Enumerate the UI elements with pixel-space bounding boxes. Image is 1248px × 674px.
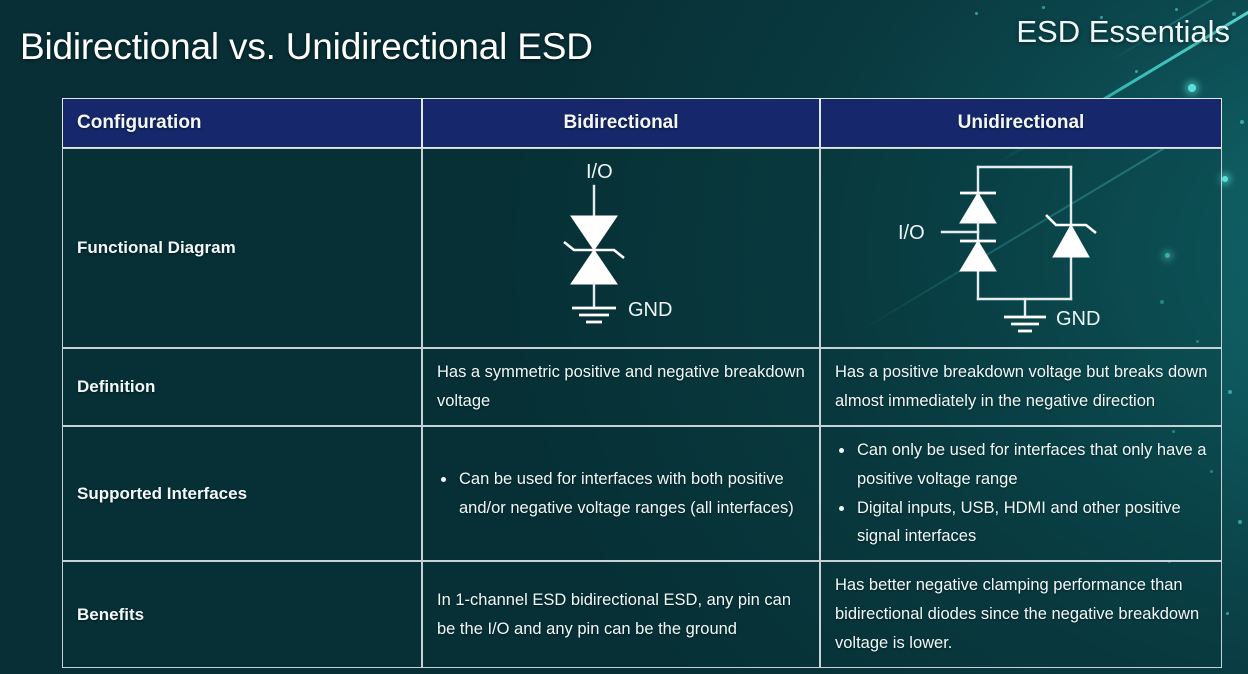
bullet-list-unidirectional: Can only be used for interfaces that onl… xyxy=(835,436,1209,552)
cell-bidirectional-diagram: I/O xyxy=(422,148,820,348)
row-label-benefits: Benefits xyxy=(62,561,422,668)
list-item: Can only be used for interfaces that onl… xyxy=(835,436,1209,494)
sparkle-icon xyxy=(1226,612,1229,615)
column-header-configuration: Configuration xyxy=(62,98,422,148)
table-row: Supported Interfaces Can be used for int… xyxy=(62,426,1222,562)
table-row: Benefits In 1-channel ESD bidirectional … xyxy=(62,561,1222,668)
cell-bidirectional-supported-interfaces: Can be used for interfaces with both pos… xyxy=(422,426,820,562)
gnd-label-unidirectional: GND xyxy=(1056,308,1100,330)
row-label-supported-interfaces: Supported Interfaces xyxy=(62,426,422,562)
sparkle-icon xyxy=(1042,6,1045,9)
table-row: Definition Has a symmetric positive and … xyxy=(62,348,1222,426)
cell-bidirectional-benefits: In 1-channel ESD bidirectional ESD, any … xyxy=(422,561,820,668)
sparkle-icon xyxy=(1228,390,1232,394)
sparkle-icon xyxy=(1175,8,1178,11)
list-item: Can be used for interfaces with both pos… xyxy=(437,465,807,523)
slide-series-label: ESD Essentials xyxy=(1016,14,1230,50)
sparkle-icon xyxy=(975,12,978,15)
comparison-table: Configuration Bidirectional Unidirection… xyxy=(62,98,1222,668)
sparkle-icon xyxy=(1188,84,1196,92)
column-header-bidirectional: Bidirectional xyxy=(422,98,820,148)
cell-unidirectional-benefits: Has better negative clamping performance… xyxy=(820,561,1222,668)
bidirectional-tvs-diode-diagram: I/O xyxy=(423,149,819,347)
gnd-label-bidirectional: GND xyxy=(628,299,672,321)
io-label-unidirectional: I/O xyxy=(898,222,925,244)
row-label-functional-diagram: Functional Diagram xyxy=(62,148,422,348)
unidirectional-tvs-diode-array-diagram: I/O xyxy=(821,149,1221,347)
sparkle-icon xyxy=(1240,120,1244,124)
bullet-list-bidirectional: Can be used for interfaces with both pos… xyxy=(437,465,807,523)
io-label-bidirectional: I/O xyxy=(586,161,613,183)
slide-title: Bidirectional vs. Unidirectional ESD xyxy=(20,26,593,68)
table-body: Functional Diagram I/O xyxy=(62,148,1222,668)
table-header: Configuration Bidirectional Unidirection… xyxy=(62,98,1222,148)
list-item: Digital inputs, USB, HDMI and other posi… xyxy=(835,494,1209,552)
bidirectional-circuit-svg: I/O xyxy=(516,156,726,341)
comparison-table-wrapper: Configuration Bidirectional Unidirection… xyxy=(62,98,1222,668)
sparkle-icon xyxy=(1135,70,1138,73)
table-row: Functional Diagram I/O xyxy=(62,148,1222,348)
sparkle-icon xyxy=(1238,520,1242,524)
column-header-unidirectional: Unidirectional xyxy=(820,98,1222,148)
cell-unidirectional-definition: Has a positive breakdown voltage but bre… xyxy=(820,348,1222,426)
sparkle-icon xyxy=(1232,12,1236,16)
unidirectional-circuit-svg: I/O xyxy=(886,153,1156,343)
cell-unidirectional-diagram: I/O xyxy=(820,148,1222,348)
cell-unidirectional-supported-interfaces: Can only be used for interfaces that onl… xyxy=(820,426,1222,562)
sparkle-icon xyxy=(1222,176,1228,182)
slide-canvas: Bidirectional vs. Unidirectional ESD ESD… xyxy=(0,0,1248,674)
row-label-definition: Definition xyxy=(62,348,422,426)
cell-bidirectional-definition: Has a symmetric positive and negative br… xyxy=(422,348,820,426)
table-header-row: Configuration Bidirectional Unidirection… xyxy=(62,98,1222,148)
